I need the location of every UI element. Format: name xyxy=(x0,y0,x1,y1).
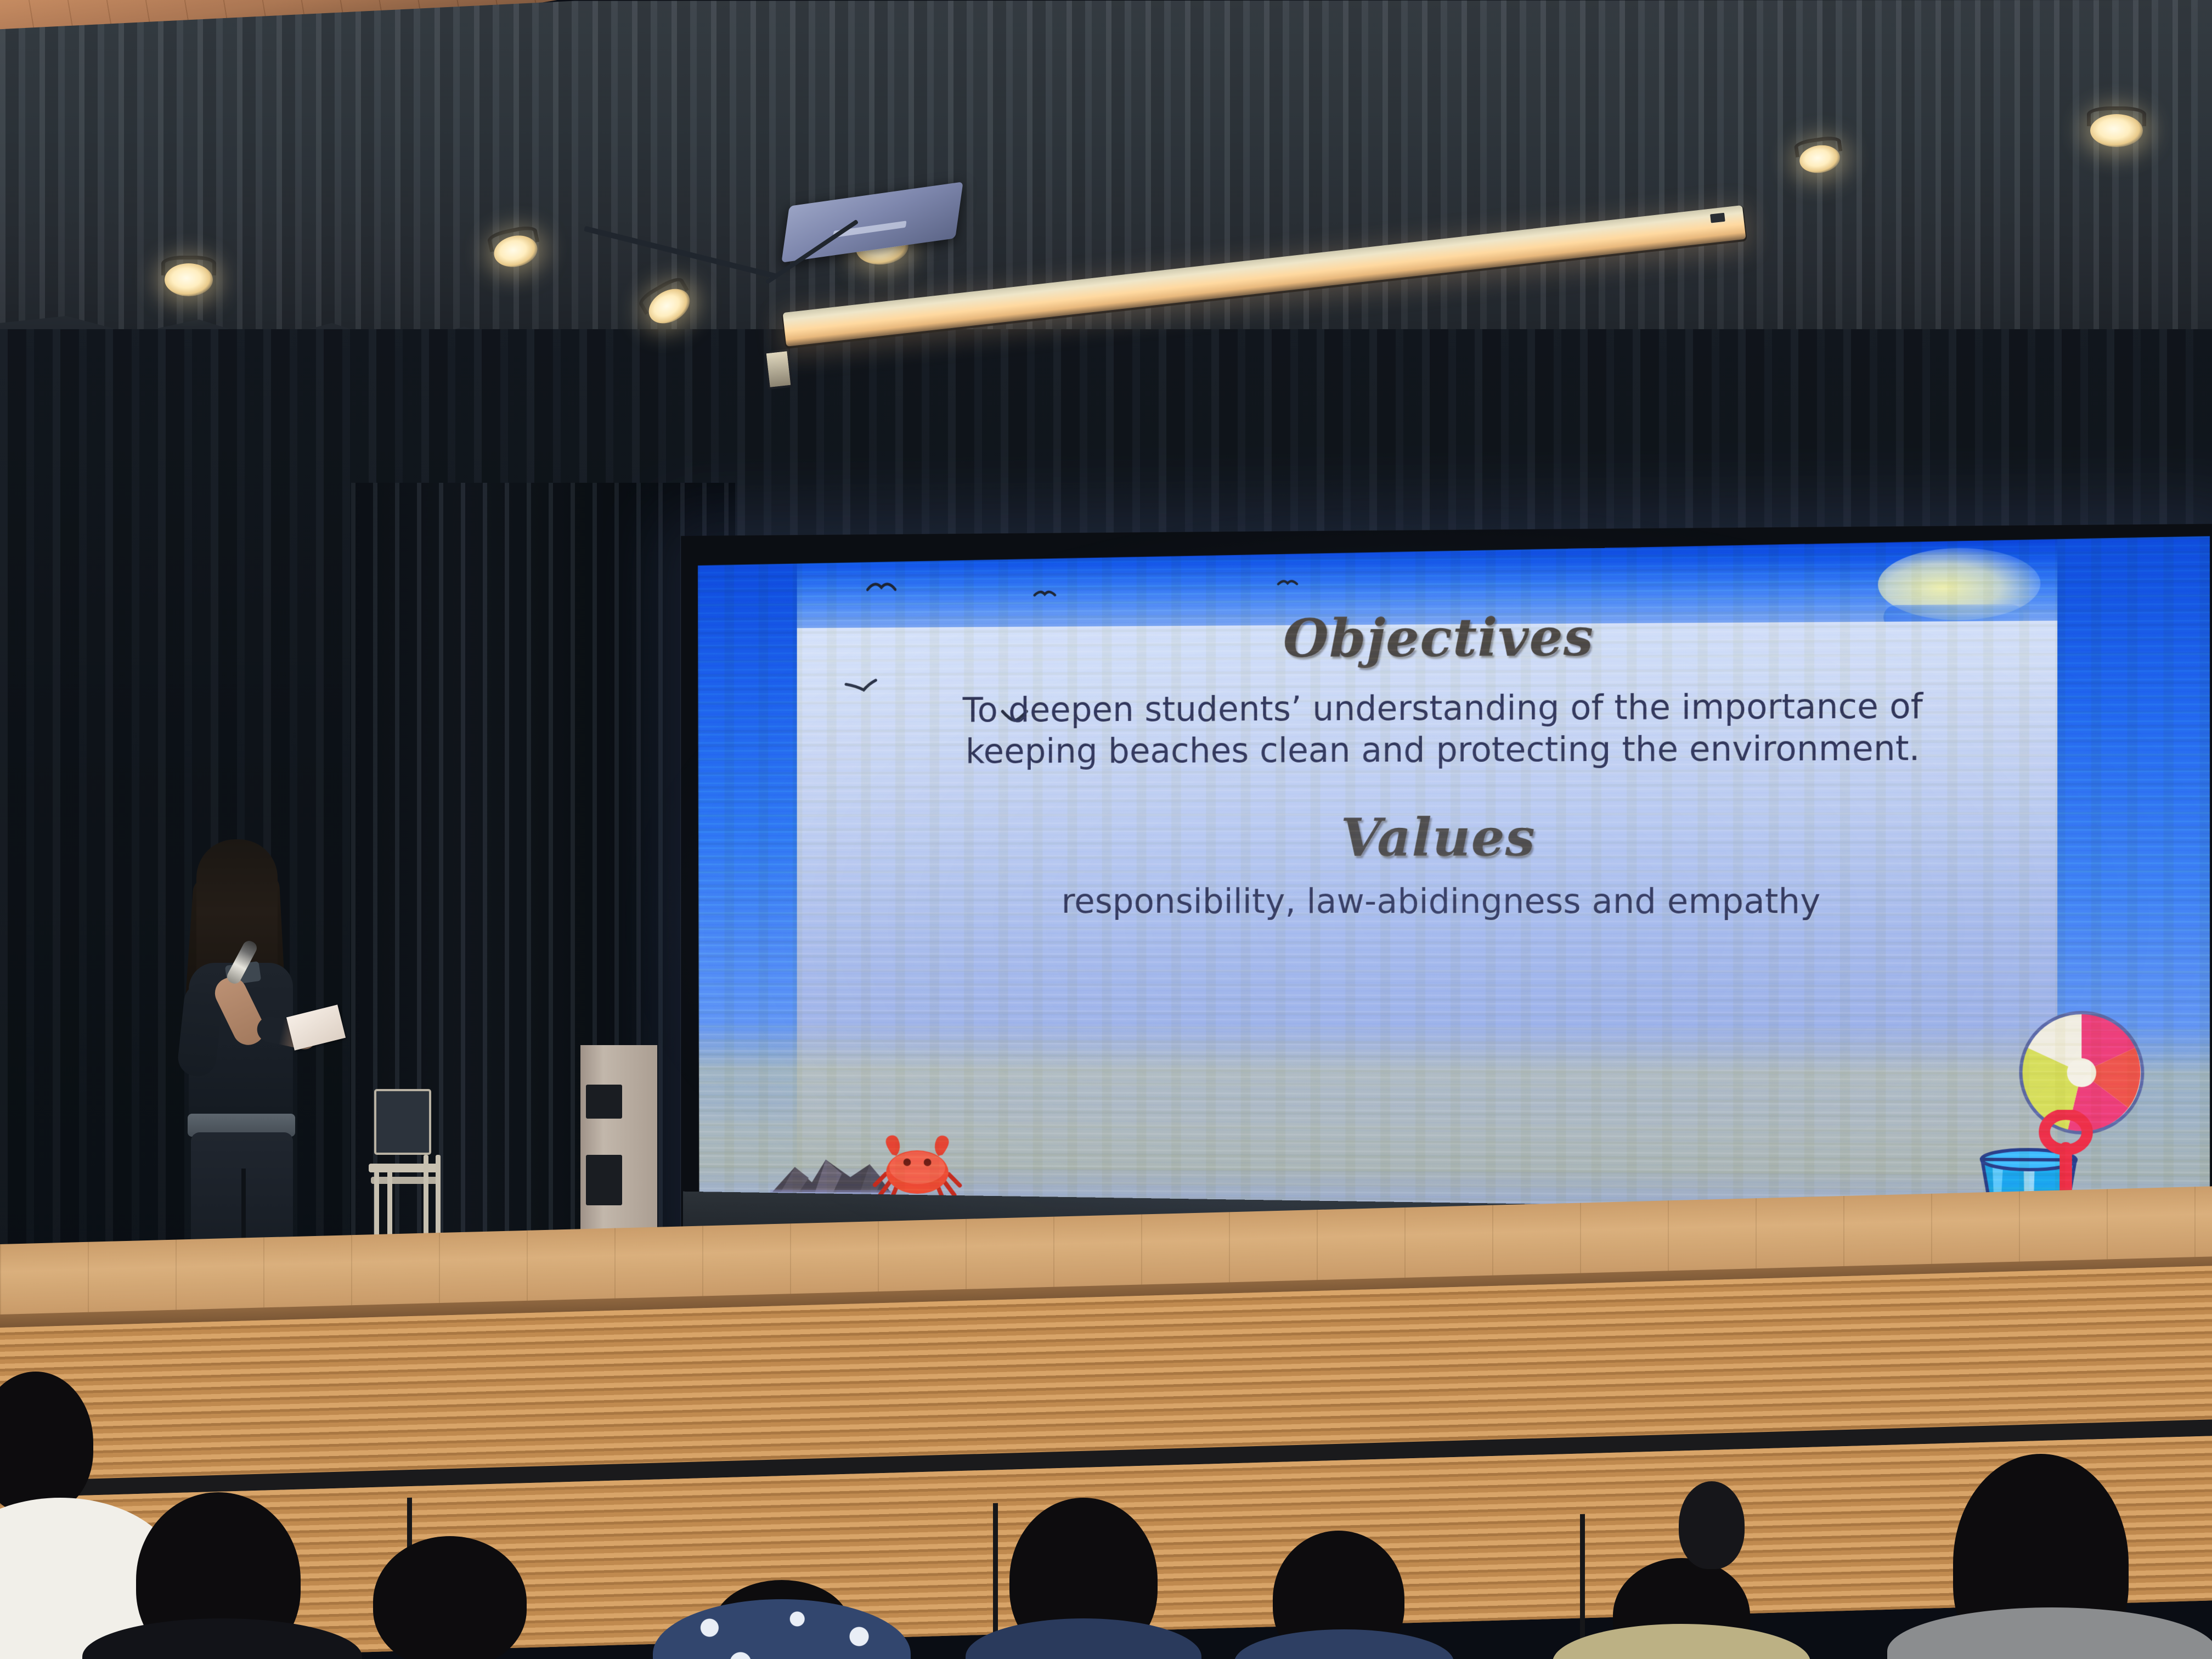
audience-head xyxy=(373,1536,527,1659)
spacer xyxy=(691,868,2210,881)
audience-shoulders xyxy=(1553,1624,1810,1659)
crab-icon xyxy=(872,1132,963,1203)
spotlight-bulb xyxy=(165,263,213,296)
seagull-bird-icon xyxy=(1033,588,1057,600)
spacer xyxy=(691,768,2210,808)
slide-body-objectives-line1: To deepen students’ understanding of the… xyxy=(691,684,2210,732)
ceiling-spotlight-icon xyxy=(165,263,213,296)
slide-heading-values: Values xyxy=(691,805,2210,869)
podium-slot xyxy=(586,1155,622,1205)
seagull-bird-icon xyxy=(1277,577,1299,588)
ceiling-spotlight-icon xyxy=(2090,114,2143,147)
assembly-hall-photo: Objectives To deepen students’ understan… xyxy=(0,0,2212,1659)
presenter-speaker xyxy=(165,839,329,1295)
projection-screen-frame: Objectives To deepen students’ understan… xyxy=(681,524,2212,1278)
projection-screen: Objectives To deepen students’ understan… xyxy=(691,536,2210,1243)
spotlight-bulb xyxy=(2090,114,2143,147)
slide-body-values: responsibility, law-abidingness and empa… xyxy=(691,881,2210,923)
audience-shoulders xyxy=(1234,1629,1454,1659)
audience-shoulders xyxy=(1887,1607,2212,1659)
slide-body-objectives-line2: keeping beaches clean and protecting the… xyxy=(691,726,2210,773)
podium-slot xyxy=(586,1085,622,1119)
slide-heading-objectives: Objectives xyxy=(691,602,2210,672)
slide-text-block: Objectives To deepen students’ understan… xyxy=(691,602,2210,922)
chair-seat xyxy=(371,1177,439,1184)
fluorescent-bar-endcap xyxy=(764,349,793,390)
seagull-bird-icon xyxy=(866,579,896,594)
audience-head xyxy=(1679,1481,1745,1569)
chair-backrest xyxy=(374,1089,431,1155)
